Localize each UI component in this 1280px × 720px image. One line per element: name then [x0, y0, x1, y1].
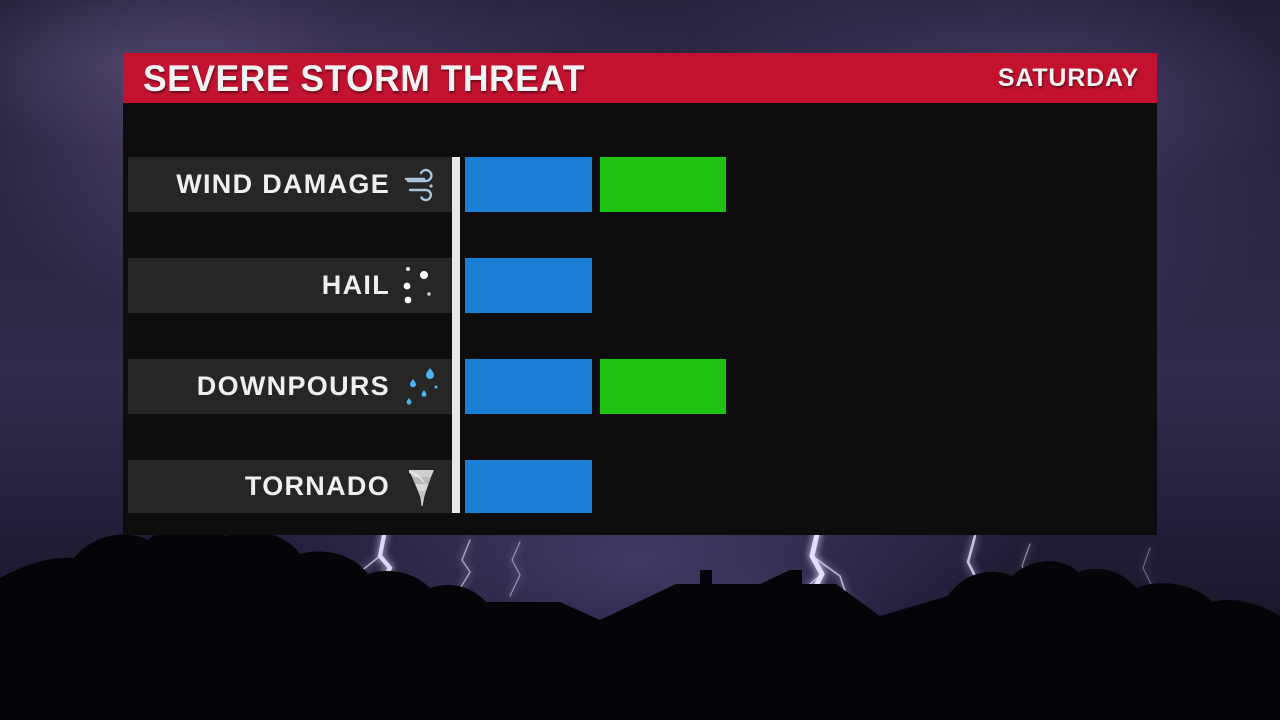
table-row: WIND DAMAGE	[128, 157, 1152, 212]
bar-segment-level1	[465, 258, 592, 313]
threat-label-downpours: DOWNPOURS	[128, 359, 452, 414]
threat-label-tornado: TORNADO	[128, 460, 452, 513]
table-row: TORNADO	[128, 460, 1152, 513]
wind-icon	[400, 163, 442, 207]
panel-header: SEVERE STORM THREAT SATURDAY	[123, 53, 1157, 103]
chart-axis-line	[452, 157, 460, 513]
bar-segment-level2	[600, 359, 726, 414]
bar-segment-level1	[465, 359, 592, 414]
bar-segment-level1	[465, 460, 592, 513]
tornado-icon	[400, 465, 442, 509]
threat-label-text: HAIL	[322, 272, 390, 299]
page-title: SEVERE STORM THREAT	[143, 60, 585, 97]
threat-chart: WIND DAMAGE HAIL	[123, 103, 1157, 535]
hail-icon	[400, 264, 442, 308]
severe-storm-threat-panel: SEVERE STORM THREAT SATURDAY WIND DAMAGE	[123, 53, 1157, 535]
threat-label-hail: HAIL	[128, 258, 452, 313]
day-label: SATURDAY	[998, 66, 1139, 91]
threat-label-text: TORNADO	[245, 473, 390, 500]
threat-label-text: WIND DAMAGE	[176, 171, 390, 198]
threat-label-wind-damage: WIND DAMAGE	[128, 157, 452, 212]
raindrops-icon	[400, 365, 442, 409]
threat-label-text: DOWNPOURS	[197, 373, 390, 400]
table-row: DOWNPOURS	[128, 359, 1152, 414]
bar-segment-level1	[465, 157, 592, 212]
bar-segment-level2	[600, 157, 726, 212]
table-row: HAIL	[128, 258, 1152, 313]
